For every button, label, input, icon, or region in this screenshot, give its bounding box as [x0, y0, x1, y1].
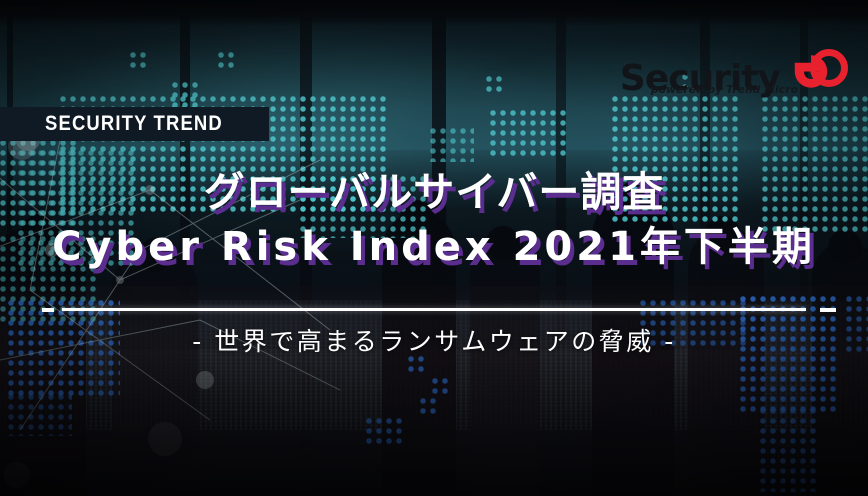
divider-dash-right	[820, 308, 836, 312]
security-trend-banner: SECURITY TREND グローバルサイバー調査 Cyber Risk In…	[0, 0, 868, 496]
headline-line-1: グローバルサイバー調査	[0, 168, 868, 216]
securitygo-logo: Security powered by Trend Micro	[644, 44, 850, 106]
headline-block: グローバルサイバー調査 Cyber Risk Index 2021年下半期	[0, 168, 868, 274]
divider-rule	[0, 308, 868, 312]
security-trend-badge-label: SECURITY TREND	[45, 112, 223, 136]
headline-line-2: Cyber Risk Index 2021年下半期	[0, 220, 868, 274]
divider-dash-left	[42, 308, 54, 312]
logo-tagline: powered by Trend Micro	[651, 84, 798, 96]
logo-wordmark: Security	[644, 44, 850, 88]
divider-line	[62, 308, 806, 311]
security-trend-badge: SECURITY TREND	[0, 107, 268, 141]
subtitle: - 世界で高まるランサムウェアの脅威 -	[0, 322, 868, 358]
